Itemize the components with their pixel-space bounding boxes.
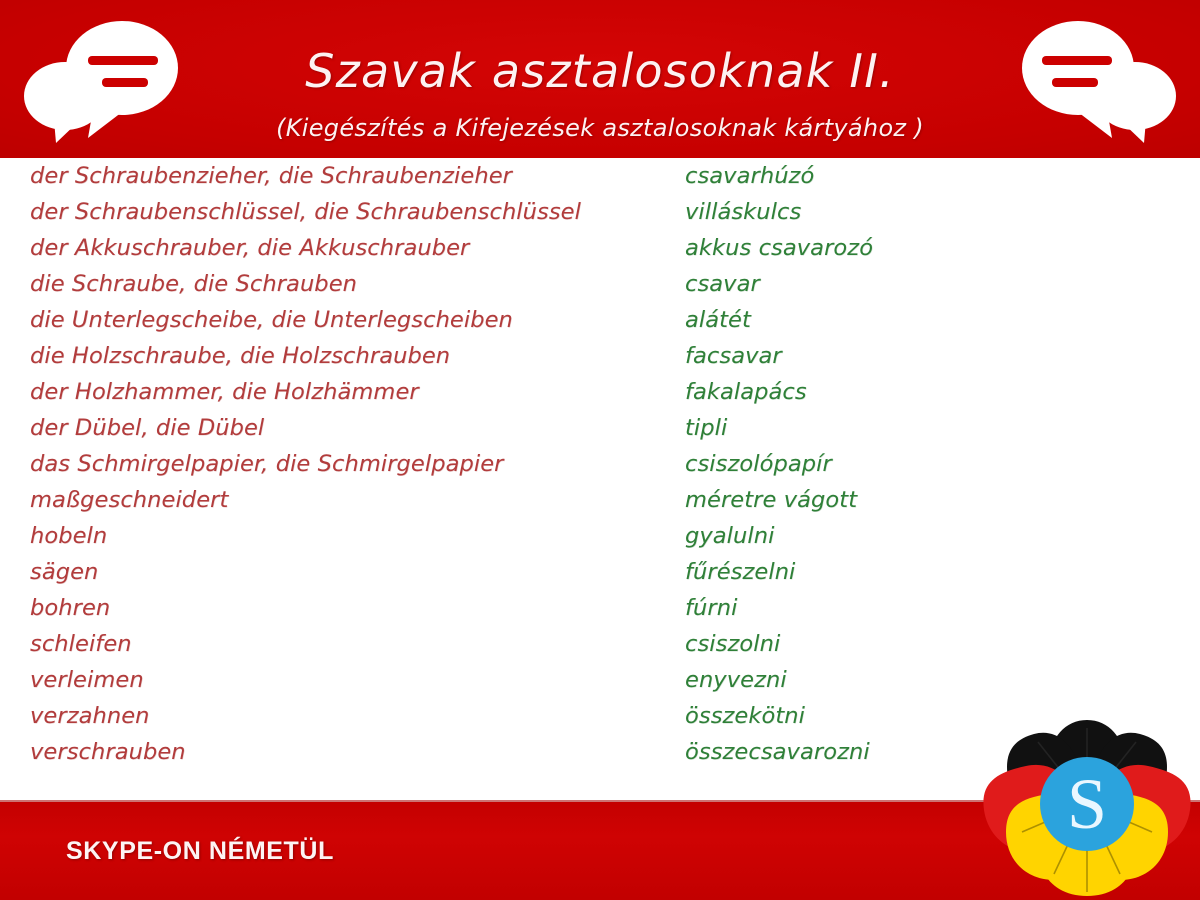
vocabulary-list: der Schraubenzieher, die Schraubenzieher…: [0, 158, 1200, 802]
vocabulary-row: hobelngyalulni: [0, 518, 1200, 554]
hungarian-term: facsavar: [685, 338, 782, 374]
hungarian-term: fakalapács: [685, 374, 807, 410]
hungarian-term: enyvezni: [685, 662, 787, 698]
hungarian-term: csiszolni: [685, 626, 780, 662]
german-term: der Holzhammer, die Holzhämmer: [30, 374, 419, 410]
hungarian-term: összekötni: [685, 698, 805, 734]
german-term: maßgeschneidert: [30, 482, 228, 518]
hungarian-term: villáskulcs: [685, 194, 801, 230]
hungarian-term: összecsavarozni: [685, 734, 870, 770]
vocabulary-row: sägenfűrészelni: [0, 554, 1200, 590]
german-term: verleimen: [30, 662, 144, 698]
hungarian-term: gyalulni: [685, 518, 774, 554]
hungarian-term: tipli: [685, 410, 727, 446]
vocabulary-row: der Akkuschrauber, die Akkuschrauberakku…: [0, 230, 1200, 266]
german-term: der Dübel, die Dübel: [30, 410, 264, 446]
page-subtitle: (Kiegészítés a Kifejezések asztalosoknak…: [0, 113, 1200, 143]
skype-flower-logo[interactable]: S: [982, 708, 1192, 898]
german-term: der Akkuschrauber, die Akkuschrauber: [30, 230, 469, 266]
page-title: Szavak asztalosoknak II.: [0, 44, 1200, 98]
german-term: die Schraube, die Schrauben: [30, 266, 357, 302]
logo-letter: S: [1067, 764, 1107, 844]
german-term: verzahnen: [30, 698, 150, 734]
german-term: die Unterlegscheibe, die Unterlegscheibe…: [30, 302, 513, 338]
vocabulary-row: der Schraubenzieher, die Schraubenzieher…: [0, 158, 1200, 194]
hungarian-term: fúrni: [685, 590, 737, 626]
vocabulary-row: maßgeschneidertméretre vágott: [0, 482, 1200, 518]
german-term: der Schraubenschlüssel, die Schraubensch…: [30, 194, 581, 230]
vocabulary-row: das Schmirgelpapier, die Schmirgelpapier…: [0, 446, 1200, 482]
vocabulary-row: der Holzhammer, die Holzhämmerfakalapács: [0, 374, 1200, 410]
german-term: verschrauben: [30, 734, 186, 770]
german-term: hobeln: [30, 518, 107, 554]
vocabulary-row: die Holzschraube, die Holzschraubenfacsa…: [0, 338, 1200, 374]
vocabulary-row: bohrenfúrni: [0, 590, 1200, 626]
hungarian-term: akkus csavarozó: [685, 230, 873, 266]
vocabulary-row: verleimenenyvezni: [0, 662, 1200, 698]
hungarian-term: fűrészelni: [685, 554, 795, 590]
hungarian-term: csavarhúzó: [685, 158, 814, 194]
german-term: schleifen: [30, 626, 132, 662]
german-term: das Schmirgelpapier, die Schmirgelpapier: [30, 446, 504, 482]
hungarian-term: alátét: [685, 302, 751, 338]
vocabulary-row: die Unterlegscheibe, die Unterlegscheibe…: [0, 302, 1200, 338]
vocabulary-card: Szavak asztalosoknak II. (Kiegészítés a …: [0, 0, 1200, 900]
vocabulary-row: schleifencsiszolni: [0, 626, 1200, 662]
hungarian-term: csiszolópapír: [685, 446, 832, 482]
german-term: sägen: [30, 554, 98, 590]
vocabulary-row: der Dübel, die Dübeltipli: [0, 410, 1200, 446]
header-banner: Szavak asztalosoknak II. (Kiegészítés a …: [0, 0, 1200, 158]
german-term: der Schraubenzieher, die Schraubenzieher: [30, 158, 512, 194]
brand-label: SKYPE-ON NÉMETÜL: [66, 836, 334, 866]
hungarian-term: csavar: [685, 266, 760, 302]
hungarian-term: méretre vágott: [685, 482, 857, 518]
vocabulary-row: die Schraube, die Schraubencsavar: [0, 266, 1200, 302]
german-term: die Holzschraube, die Holzschrauben: [30, 338, 450, 374]
german-term: bohren: [30, 590, 110, 626]
vocabulary-row: der Schraubenschlüssel, die Schraubensch…: [0, 194, 1200, 230]
